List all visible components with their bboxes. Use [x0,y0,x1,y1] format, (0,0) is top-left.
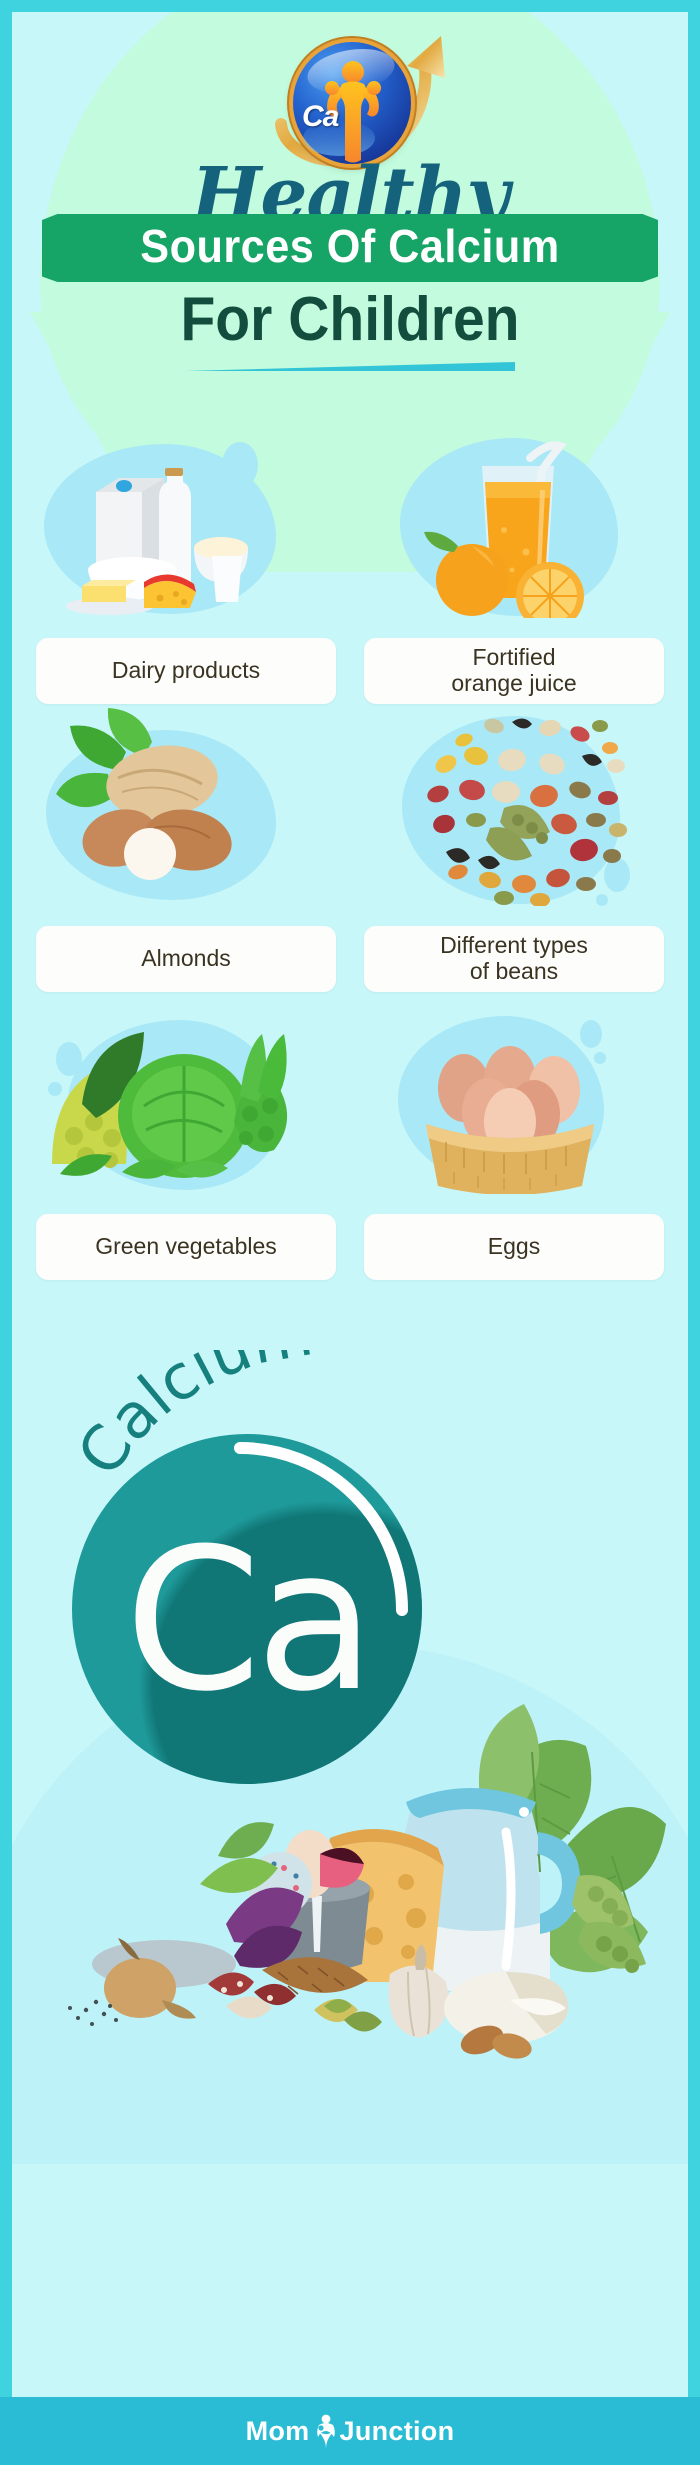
almonds-illustration [26,708,346,906]
poster-inner-panel: Ca Healthy Sources Of Calcium For Childr… [12,12,688,2397]
grid-row: Almonds [12,708,688,996]
title-banner-text: Sources Of Calcium [32,212,667,280]
source-label-text: Different typesof beans [440,933,588,985]
source-card-different-types-of-beans[interactable]: Different typesof beans [354,708,674,996]
brand-name-first: Mom [246,2416,310,2447]
source-label: Almonds [36,926,336,992]
source-card-green-vegetables[interactable]: Green vegetables [26,996,346,1284]
brand-name-second: Junction [340,2416,455,2447]
source-label: Eggs [364,1214,664,1280]
source-label: Different typesof beans [364,926,664,992]
source-card-fortified-orange-juice[interactable]: Fortifiedorange juice [354,420,674,708]
basket-of-eggs-illustration [354,996,674,1194]
source-card-almonds[interactable]: Almonds [26,708,346,996]
calcium-hero-scene: Calcium Ca [12,1284,688,2397]
infographic-poster: Ca Healthy Sources Of Calcium For Childr… [0,0,700,2465]
source-label: Dairy products [36,638,336,704]
source-label: Fortifiedorange juice [364,638,664,704]
badge-symbol: Ca [302,100,338,134]
dairy-products-illustration [26,420,346,618]
source-label-text: Green vegetables [95,1234,277,1260]
source-label-text: Fortifiedorange juice [451,645,576,697]
momjunction-mother-child-icon [312,2414,338,2448]
source-label: Green vegetables [36,1214,336,1280]
source-card-dairy-products[interactable]: Dairy products [26,420,346,708]
source-label-text: Dairy products [112,658,260,684]
grid-row: Green vegetables [12,996,688,1284]
assorted-beans-illustration [354,708,674,906]
sources-grid: Dairy products [12,420,688,1284]
source-card-eggs[interactable]: Eggs [354,996,674,1284]
source-label-text: Eggs [488,1234,540,1260]
footer-bar: Mom Junction [0,2397,700,2465]
momjunction-logo[interactable]: Mom Junction [246,2414,455,2448]
source-label-text: Almonds [141,946,230,972]
title-subheading: For Children [39,284,661,356]
green-vegetables-illustration [26,996,346,1194]
orange-juice-glass-illustration [354,420,674,618]
calcium-rich-foods-scene [12,1284,688,2397]
grid-row: Dairy products [12,420,688,708]
